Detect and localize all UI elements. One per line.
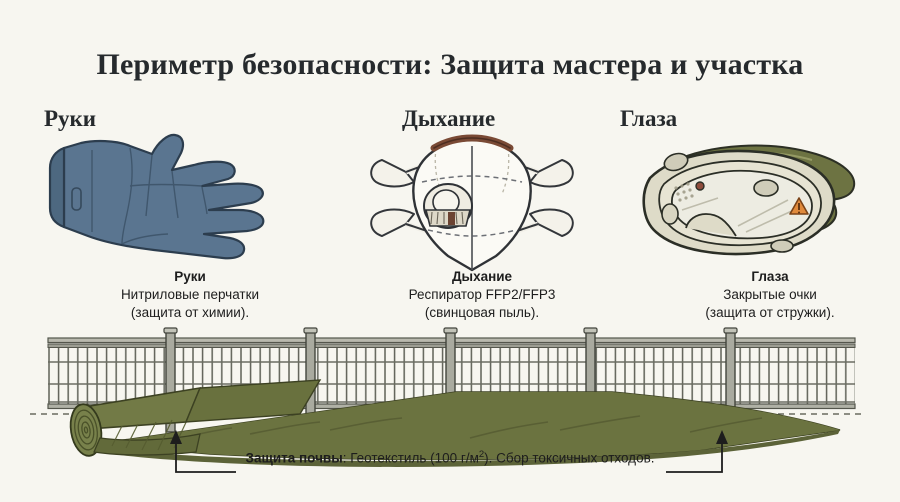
footnote-text-after: ). Сбор токсичных отходов.	[484, 451, 654, 466]
caption-line2-eyes: (защита от стружки).	[640, 304, 900, 322]
caption-line1-eyes: Закрытые очки	[640, 286, 900, 304]
glove-icon	[34, 126, 324, 266]
caption-respirator: Дыхание Респиратор FFP2/FFP3 (свинцовая …	[352, 268, 612, 323]
caption-line1-hands: Нитриловые перчатки	[60, 286, 320, 304]
goggles-icon	[620, 128, 870, 270]
respirator-icon	[362, 124, 582, 272]
caption-title-eyes: Глаза	[640, 268, 900, 286]
page-title: Периметр безопасности: Защита мастера и …	[0, 48, 900, 82]
caption-eyes: Глаза Закрытые очки (защита от стружки).	[640, 268, 900, 323]
caption-title-hands: Руки	[60, 268, 320, 286]
caption-line2-respirator: (свинцовая пыль).	[352, 304, 612, 322]
footnote-label: Защита почвы	[245, 451, 342, 466]
footnote-text-before: Геотекстиль (100 г/м	[350, 451, 479, 466]
footnote-soil-protection: Защита почвы: Геотекстиль (100 г/м2). Сб…	[0, 449, 900, 466]
caption-title-respirator: Дыхание	[352, 268, 612, 286]
caption-hands: Руки Нитриловые перчатки (защита от хими…	[60, 268, 320, 323]
caption-line2-hands: (защита от химии).	[60, 304, 320, 322]
caption-line1-respirator: Респиратор FFP2/FFP3	[352, 286, 612, 304]
infographic-canvas: Периметр безопасности: Защита мастера и …	[0, 0, 900, 502]
site-protection-scene	[0, 326, 900, 502]
